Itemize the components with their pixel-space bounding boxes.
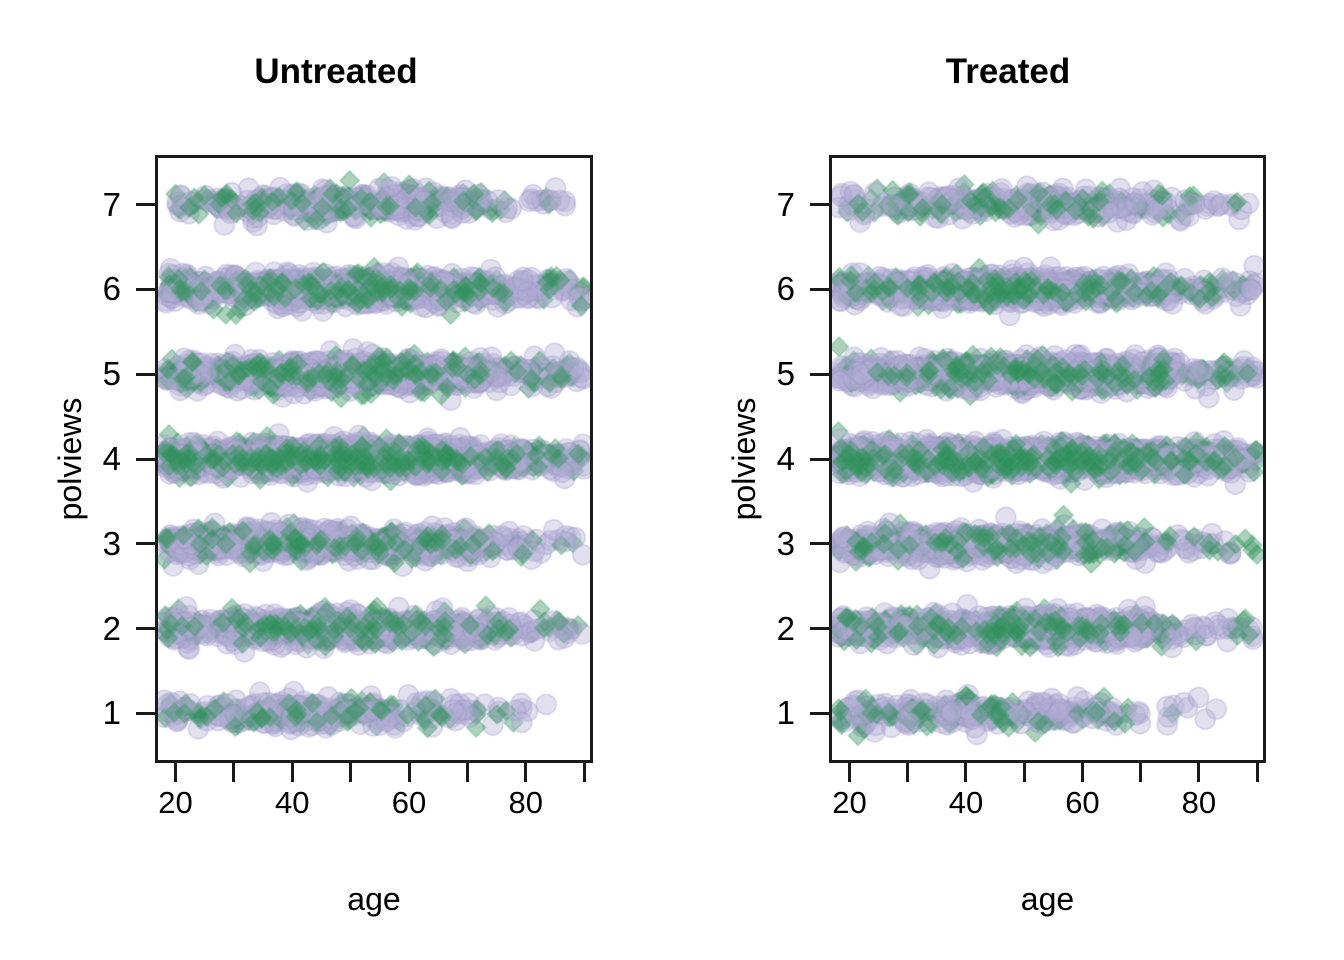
y-tick-label: 5 [777,355,795,393]
y-axis-title: polviews [52,398,89,521]
y-tick-label: 7 [777,186,795,224]
y-tick-label: 5 [103,355,121,393]
y-tick [136,712,155,715]
y-tick-label: 7 [103,186,121,224]
x-tick-label: 40 [949,785,983,821]
y-tick [136,458,155,461]
x-tick [583,763,586,782]
x-tick [906,763,909,782]
y-tick-label: 4 [777,440,795,478]
plot-area [829,155,1266,763]
x-tick [848,763,851,782]
x-tick [349,763,352,782]
x-tick [1023,763,1026,782]
x-tick-label: 60 [392,785,426,821]
y-axis-ticks: 1234567 [807,155,829,763]
y-tick-label: 2 [777,610,795,648]
x-tick-label: 80 [1182,785,1216,821]
y-tick-label: 1 [103,694,121,732]
y-tick-label: 6 [777,270,795,308]
panel-title: Treated [672,52,1344,92]
y-tick-label: 3 [777,525,795,563]
x-axis-title: age [347,881,400,918]
x-tick-label: 60 [1065,785,1099,821]
y-tick [810,203,829,206]
y-tick-label: 1 [777,694,795,732]
y-tick [136,542,155,545]
y-tick [136,203,155,206]
x-axis-title: age [1021,881,1074,918]
x-tick [232,763,235,782]
x-tick-label: 20 [832,785,866,821]
figure-root: Untreated 20406080 1234567 age polviews … [0,0,1344,960]
scatter-canvas [158,158,590,760]
x-axis-ticks: 20406080 [829,763,1266,833]
y-tick [810,373,829,376]
panel-untreated: Untreated 20406080 1234567 age polviews [0,0,672,960]
y-tick [136,627,155,630]
x-tick-label: 40 [275,785,309,821]
x-tick [524,763,527,782]
y-tick-label: 3 [103,525,121,563]
y-tick [810,712,829,715]
y-tick-label: 6 [103,270,121,308]
y-tick [810,627,829,630]
y-axis-ticks: 1234567 [133,155,155,763]
y-tick-label: 2 [103,610,121,648]
x-tick [466,763,469,782]
x-tick-label: 20 [158,785,192,821]
x-tick [408,763,411,782]
plot-area [155,155,593,763]
x-axis-ticks: 20406080 [155,763,593,833]
y-tick [810,458,829,461]
y-tick [136,288,155,291]
x-tick [1256,763,1259,782]
x-tick [964,763,967,782]
y-tick [810,542,829,545]
x-tick [1197,763,1200,782]
x-tick [174,763,177,782]
y-tick [136,373,155,376]
x-tick [291,763,294,782]
y-tick-label: 4 [103,440,121,478]
panel-title: Untreated [0,52,672,92]
panel-treated: Treated 20406080 1234567 age polviews [672,0,1344,960]
x-tick [1081,763,1084,782]
x-tick-label: 80 [509,785,543,821]
y-tick [810,288,829,291]
x-tick [1139,763,1142,782]
scatter-canvas [832,158,1263,760]
y-axis-title: polviews [726,398,763,521]
